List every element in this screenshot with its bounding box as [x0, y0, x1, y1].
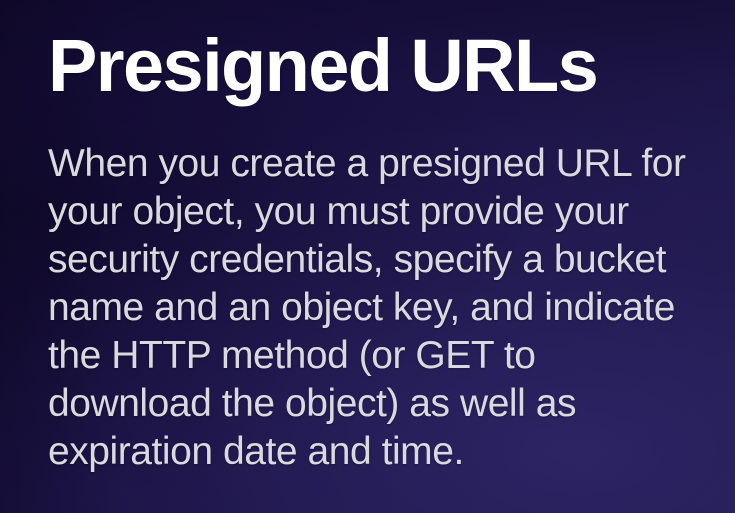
presentation-slide: Presigned URLs When you create a presign…: [0, 0, 735, 513]
slide-content: Presigned URLs When you create a presign…: [0, 0, 735, 476]
slide-body-text: When you create a presigned URL for your…: [48, 105, 691, 476]
page-title: Presigned URLs: [48, 0, 691, 105]
